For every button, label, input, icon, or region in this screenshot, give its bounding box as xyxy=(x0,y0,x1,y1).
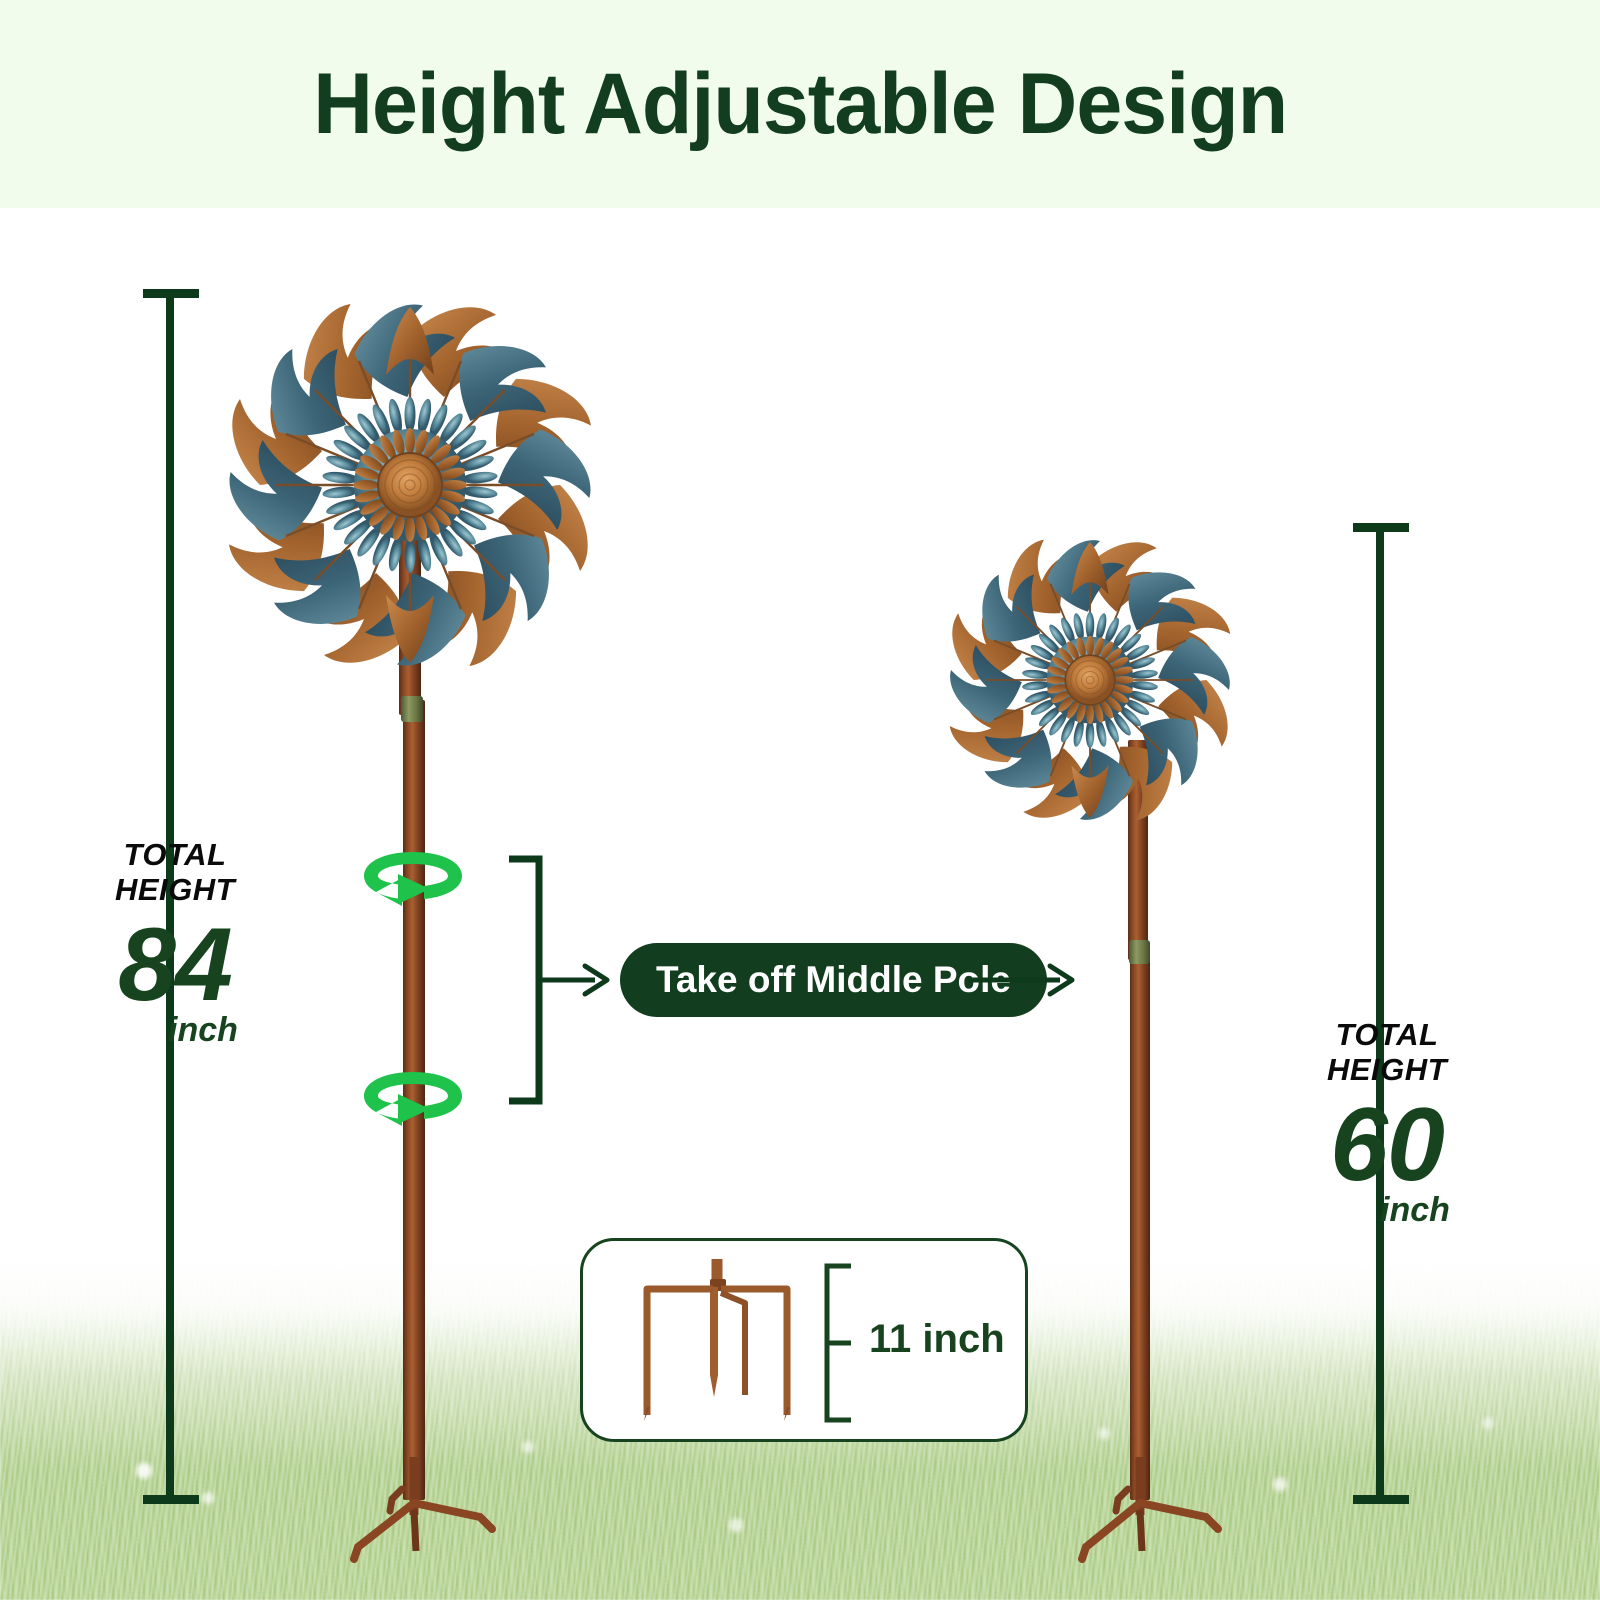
left-dimension-cap-bottom xyxy=(143,1495,199,1504)
eleven-inch-label: 11 inch xyxy=(869,1317,1005,1362)
left-label-line1: TOTAL xyxy=(60,838,290,873)
left-label-line2: HEIGHT xyxy=(60,873,290,908)
right-height-value: 60 xyxy=(1272,1095,1502,1197)
left-spinner-art xyxy=(210,285,610,685)
right-wind-spinner-head xyxy=(935,525,1245,835)
rotation-arrow-lower-icon xyxy=(358,1058,468,1130)
left-pole-connector xyxy=(401,696,423,722)
right-pole-connector xyxy=(1129,940,1150,964)
right-dimension-cap-bottom xyxy=(1353,1495,1409,1504)
left-total-height-label: TOTAL HEIGHT 84 inch xyxy=(60,838,290,1047)
infographic-canvas: Height Adjustable Design TOTAL HEIGHT 84… xyxy=(0,0,1600,1600)
left-height-value: 84 xyxy=(60,915,290,1017)
right-pole-lower xyxy=(1130,948,1150,1500)
left-ground-stake xyxy=(340,1455,520,1565)
inset-ground-stake-illustration xyxy=(617,1257,817,1429)
take-off-middle-pole-label: Take off Middle Pole xyxy=(656,959,1011,1001)
right-total-height-label: TOTAL HEIGHT 60 inch xyxy=(1272,1018,1502,1227)
right-dimension-line xyxy=(1376,527,1384,1503)
ground-stake-inset-card: 11 inch xyxy=(580,1238,1028,1442)
right-ground-stake xyxy=(1072,1455,1252,1565)
right-label-line1: TOTAL xyxy=(1272,1018,1502,1053)
page-title: Height Adjustable Design xyxy=(313,61,1287,147)
left-wind-spinner-head xyxy=(210,285,610,685)
right-spinner-art xyxy=(935,525,1245,835)
left-height-unit: inch xyxy=(60,1013,290,1047)
eleven-inch-bracket-icon xyxy=(821,1263,855,1423)
header-banner: Height Adjustable Design xyxy=(0,0,1600,208)
right-label-line2: HEIGHT xyxy=(1272,1053,1502,1088)
middle-pole-arrow-left-icon xyxy=(537,956,613,1004)
rotation-arrow-upper-icon xyxy=(358,838,468,910)
right-height-unit: inch xyxy=(1272,1193,1502,1227)
middle-pole-arrow-right-icon xyxy=(968,956,1078,1004)
